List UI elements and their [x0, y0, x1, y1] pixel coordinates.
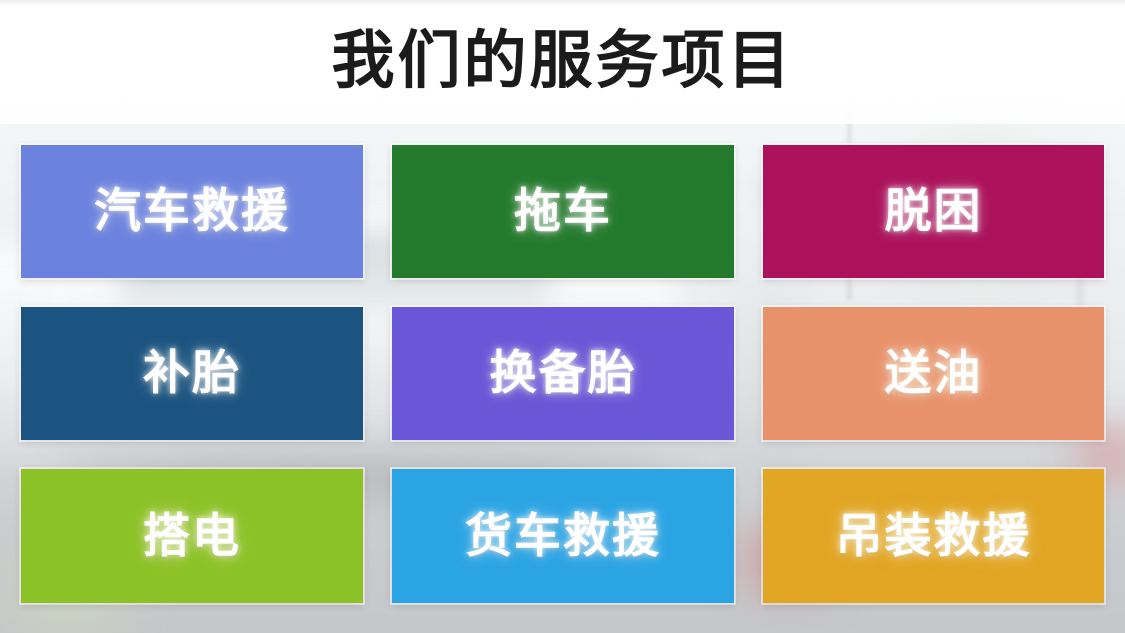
service-tile-label: 换备胎: [490, 350, 637, 397]
service-tile[interactable]: 搭电: [21, 469, 363, 603]
service-tile-label: 吊装救援: [836, 513, 1032, 560]
service-tile[interactable]: 汽车救援: [21, 145, 363, 278]
service-tile[interactable]: 拖车: [392, 145, 734, 278]
service-tile-label: 货车救援: [465, 513, 661, 560]
service-tile-label: 搭电: [143, 513, 241, 560]
service-tile-grid: 汽车救援拖车脱困补胎换备胎送油搭电货车救援吊装救援: [21, 145, 1104, 603]
service-tile-label: 拖车: [514, 188, 612, 235]
page-title: 我们的服务项目: [0, 21, 1125, 101]
service-tile[interactable]: 补胎: [21, 307, 363, 440]
service-tile[interactable]: 送油: [763, 307, 1104, 440]
service-tile[interactable]: 脱困: [763, 145, 1104, 278]
service-tile[interactable]: 货车救援: [392, 469, 734, 603]
service-tile-label: 汽车救援: [94, 188, 290, 235]
service-tile[interactable]: 换备胎: [392, 307, 734, 440]
service-tile-label: 送油: [885, 350, 983, 397]
service-tile[interactable]: 吊装救援: [763, 469, 1104, 603]
service-poster: 我们的服务项目 汽车救援拖车脱困补胎换备胎送油搭电货车救援吊装救援: [0, 0, 1125, 633]
service-tile-label: 补胎: [143, 350, 241, 397]
top-hairline: [0, 0, 1125, 6]
service-tile-label: 脱困: [885, 188, 983, 235]
